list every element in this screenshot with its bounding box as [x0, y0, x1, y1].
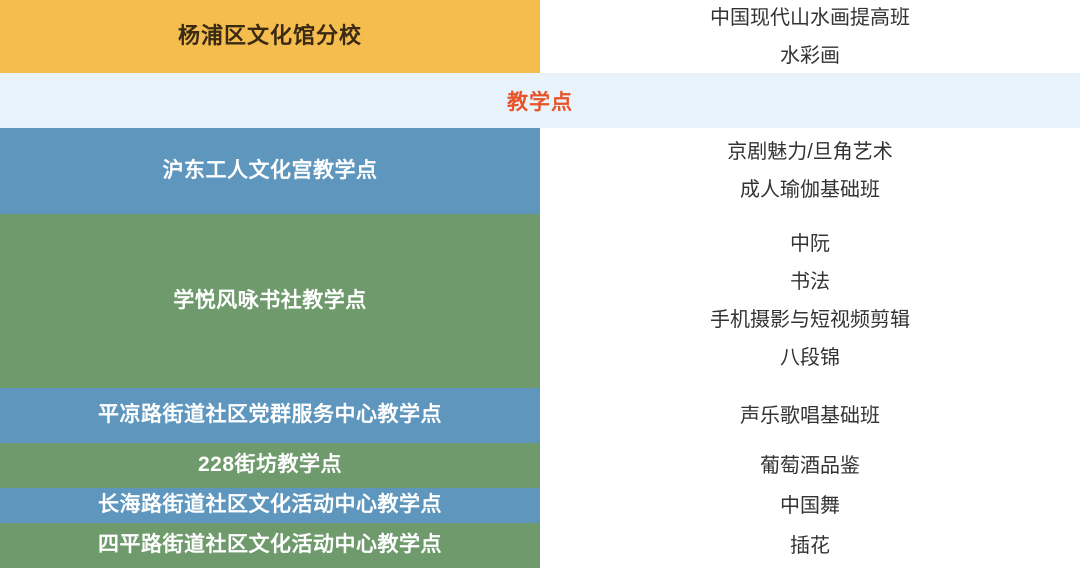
course-stack: 京剧魅力/旦角艺术 成人瑜伽基础班 — [727, 133, 893, 209]
course-item: 八段锦 — [780, 339, 840, 377]
school-name-cell: 杨浦区文化馆分校 — [0, 0, 540, 73]
teaching-point-name: 平凉路街道社区党群服务中心教学点 — [98, 402, 442, 428]
teaching-point-name-cell: 学悦风咏书社教学点 — [0, 214, 540, 388]
school-courses-cell: 中国现代山水画提高班 水彩画 — [540, 0, 1080, 73]
course-item: 声乐歌唱基础班 — [740, 397, 880, 435]
teaching-point-name: 四平路街道社区文化活动中心教学点 — [98, 532, 442, 558]
table-row: 长海路街道社区文化活动中心教学点 中国舞 — [0, 488, 1080, 523]
course-item: 中国现代山水画提高班 — [710, 0, 910, 37]
table-row: 228街坊教学点 葡萄酒品鉴 — [0, 443, 1080, 488]
teaching-point-name-cell: 平凉路街道社区党群服务中心教学点 — [0, 388, 540, 443]
table-row: 平凉路街道社区党群服务中心教学点 声乐歌唱基础班 — [0, 388, 1080, 443]
course-stack: 中国现代山水画提高班 水彩画 — [710, 0, 910, 75]
teaching-point-name-cell: 沪东工人文化宫教学点 — [0, 128, 540, 214]
table-row-school: 杨浦区文化馆分校 中国现代山水画提高班 水彩画 — [0, 0, 1080, 73]
teaching-point-courses-cell: 葡萄酒品鉴 — [540, 443, 1080, 488]
table-row: 沪东工人文化宫教学点 京剧魅力/旦角艺术 成人瑜伽基础班 — [0, 128, 1080, 214]
teaching-point-courses-cell: 声乐歌唱基础班 — [540, 388, 1080, 443]
course-item: 插花 — [790, 527, 830, 565]
course-item: 水彩画 — [780, 37, 840, 75]
table-row: 四平路街道社区文化活动中心教学点 插花 — [0, 523, 1080, 568]
course-item: 成人瑜伽基础班 — [740, 171, 880, 209]
teaching-point-courses-cell: 插花 — [540, 523, 1080, 568]
teaching-point-name-cell: 228街坊教学点 — [0, 443, 540, 488]
course-item: 葡萄酒品鉴 — [760, 447, 860, 485]
course-item: 书法 — [790, 263, 830, 301]
teaching-point-name: 228街坊教学点 — [198, 452, 342, 478]
section-banner-teaching-points: 教学点 — [0, 73, 1080, 128]
course-item: 中国舞 — [780, 487, 840, 525]
teaching-point-name-cell: 长海路街道社区文化活动中心教学点 — [0, 488, 540, 523]
table-row: 学悦风咏书社教学点 中阮 书法 手机摄影与短视频剪辑 八段锦 — [0, 214, 1080, 388]
course-item: 中阮 — [790, 225, 830, 263]
course-stack: 中阮 书法 手机摄影与短视频剪辑 八段锦 — [710, 225, 910, 377]
teaching-point-courses-cell: 中国舞 — [540, 488, 1080, 523]
teaching-point-courses-cell: 京剧魅力/旦角艺术 成人瑜伽基础班 — [540, 128, 1080, 214]
teaching-point-name: 沪东工人文化宫教学点 — [163, 158, 378, 184]
school-name: 杨浦区文化馆分校 — [178, 23, 362, 49]
teaching-point-name-cell: 四平路街道社区文化活动中心教学点 — [0, 523, 540, 568]
course-item: 手机摄影与短视频剪辑 — [710, 301, 910, 339]
teaching-point-name: 长海路街道社区文化活动中心教学点 — [98, 492, 442, 518]
course-item: 京剧魅力/旦角艺术 — [727, 133, 893, 171]
teaching-point-name: 学悦风咏书社教学点 — [173, 288, 367, 314]
section-banner-label: 教学点 — [507, 86, 573, 116]
teaching-point-courses-cell: 中阮 书法 手机摄影与短视频剪辑 八段锦 — [540, 214, 1080, 388]
course-schedule-table: 杨浦区文化馆分校 中国现代山水画提高班 水彩画 教学点 沪东工人文化宫教学点 京… — [0, 0, 1080, 568]
